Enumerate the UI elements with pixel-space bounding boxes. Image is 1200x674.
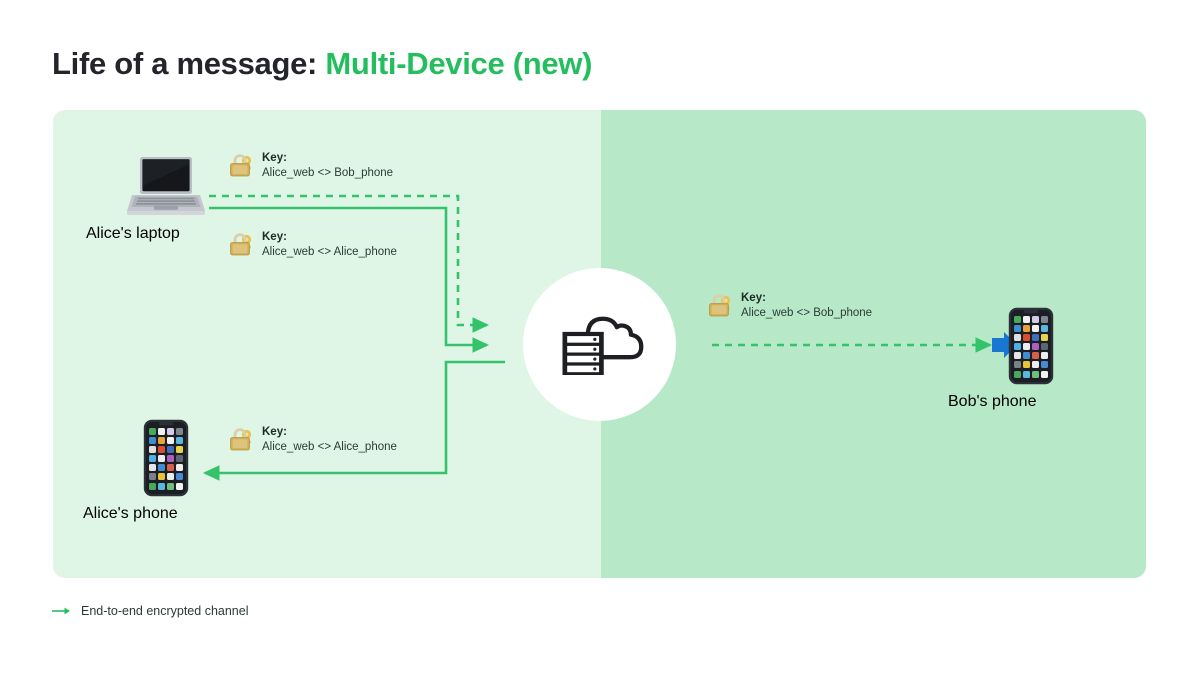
key-annotation-server-alice-phone: Key: Alice_web <> Alice_phone <box>228 425 397 455</box>
lock-key-icon <box>228 152 254 178</box>
node-server-cloud[interactable] <box>523 268 676 421</box>
title-prefix: Life of a message: <box>52 46 325 81</box>
node-bobs-phone[interactable]: Bob's phone <box>1008 307 1054 385</box>
arrow-right-icon <box>52 605 72 617</box>
key-annotation-server-bob-phone: Key: Alice_web <> Bob_phone <box>707 291 872 321</box>
key-annotation-laptop-bob: Key: Alice_web <> Bob_phone <box>228 151 393 181</box>
phone-icon <box>1008 307 1054 385</box>
panel-right-half <box>601 110 1146 578</box>
key-label: Key: <box>741 291 872 306</box>
laptop-icon <box>126 155 206 217</box>
caption-alices-phone: Alice's phone <box>83 505 249 523</box>
key-label: Key: <box>262 230 397 245</box>
legend-text: End-to-end encrypted channel <box>81 604 248 618</box>
node-alices-laptop[interactable]: Alice's laptop <box>126 155 206 217</box>
lock-key-icon <box>228 231 254 257</box>
lock-key-icon <box>228 426 254 452</box>
key-label: Key: <box>262 151 393 166</box>
key-label: Key: <box>262 425 397 440</box>
caption-bobs-phone: Bob's phone <box>948 393 1114 411</box>
key-value: Alice_web <> Alice_phone <box>262 245 397 260</box>
page-title: Life of a message: Multi-Device (new) <box>52 46 592 82</box>
legend: End-to-end encrypted channel <box>52 604 248 618</box>
cloud-server-icon <box>555 309 645 381</box>
key-value: Alice_web <> Bob_phone <box>741 306 872 321</box>
title-accent: Multi-Device (new) <box>325 46 592 81</box>
caption-alices-laptop: Alice's laptop <box>86 225 246 243</box>
key-value: Alice_web <> Alice_phone <box>262 440 397 455</box>
lock-key-icon <box>707 292 733 318</box>
phone-icon <box>143 419 189 497</box>
node-alices-phone[interactable]: Alice's phone <box>143 419 189 497</box>
key-annotation-laptop-alice: Key: Alice_web <> Alice_phone <box>228 230 397 260</box>
slide-canvas: Life of a message: Multi-Device (new) <box>0 0 1200 674</box>
key-value: Alice_web <> Bob_phone <box>262 166 393 181</box>
